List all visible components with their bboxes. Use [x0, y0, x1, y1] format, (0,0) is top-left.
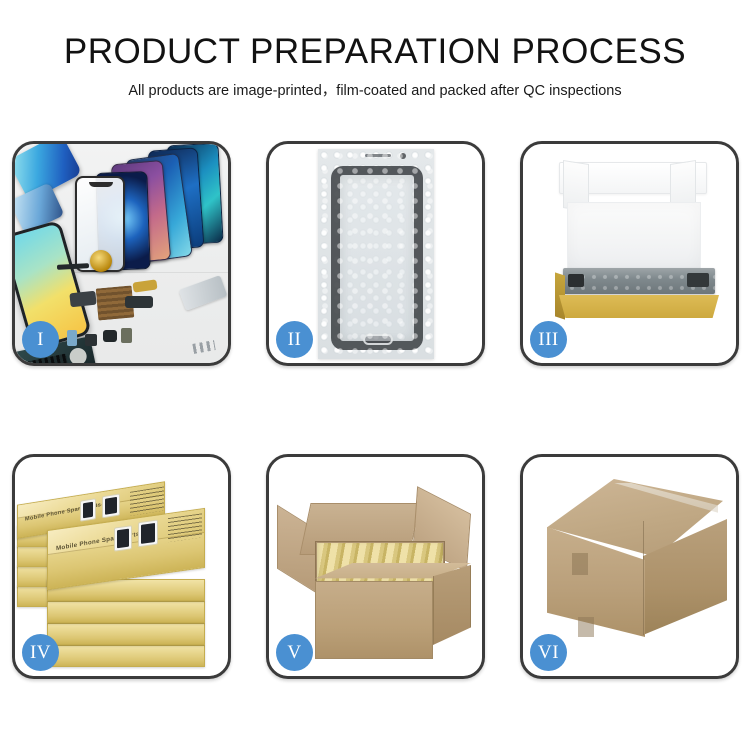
- step-panel-3: III: [520, 141, 739, 366]
- small-part-3: [103, 330, 117, 342]
- carton-front-face: [315, 581, 433, 659]
- box-thumb-b1: [114, 525, 132, 552]
- header: PRODUCT PREPARATION PROCESS All products…: [0, 34, 750, 100]
- flex-connector-c: [125, 296, 153, 308]
- page-subtitle: All products are image-printed，film-coat…: [0, 79, 750, 100]
- screen-chip-right: [687, 273, 709, 287]
- sealed-carton-edge: [643, 521, 644, 635]
- page-title: PRODUCT PREPARATION PROCESS: [0, 34, 750, 71]
- process-steps-grid: I II: [12, 141, 738, 679]
- earpiece-speaker-slot: [365, 154, 391, 157]
- front-camera-hole: [400, 153, 406, 159]
- foam-padding: [567, 202, 701, 270]
- product-preparation-infographic: PRODUCT PREPARATION PROCESS All products…: [0, 0, 750, 750]
- step-badge-1: I: [22, 321, 59, 358]
- home-button-cutout: [363, 334, 393, 345]
- step-badge-4: IV: [22, 634, 59, 671]
- carton-side-face: [433, 565, 471, 645]
- step-panel-5: V: [266, 454, 485, 679]
- step-badge-2: II: [276, 321, 313, 358]
- screws-group: [192, 340, 215, 354]
- screen-glass-panel: [331, 166, 423, 350]
- step-panel-6: VI: [520, 454, 739, 679]
- box-thumb-a1: [80, 498, 96, 522]
- small-part-2: [85, 334, 97, 346]
- step-badge-6: VI: [530, 634, 567, 671]
- carton-tab-upper: [572, 553, 588, 575]
- small-part-1: [67, 330, 77, 346]
- box-thumb-a2: [102, 493, 120, 518]
- step-badge-5: V: [276, 634, 313, 671]
- step-panel-2: II: [266, 141, 485, 366]
- flex-connector-a: [69, 291, 96, 308]
- screen-chip-left: [568, 274, 584, 287]
- repair-tweezers: [179, 275, 228, 311]
- stack-box-br-5: [47, 645, 205, 667]
- step-panel-1: I: [12, 141, 231, 366]
- carton-tab-lower: [578, 617, 594, 637]
- stack-box-br-3: [47, 601, 205, 623]
- small-part-4: [121, 328, 132, 343]
- packed-screen: [563, 268, 715, 294]
- stack-box-br-4: [47, 623, 205, 645]
- flex-connector-b: [132, 279, 157, 292]
- box-thumb-b2: [138, 520, 158, 548]
- vibration-motor-part: [90, 250, 112, 272]
- box-spec-lines-b: [168, 513, 202, 542]
- box-spec-lines-a: [130, 486, 164, 515]
- step-badge-3: III: [530, 321, 567, 358]
- step-panel-4: Mobile Phone Spare Parts Mobile Phone Sp…: [12, 454, 231, 679]
